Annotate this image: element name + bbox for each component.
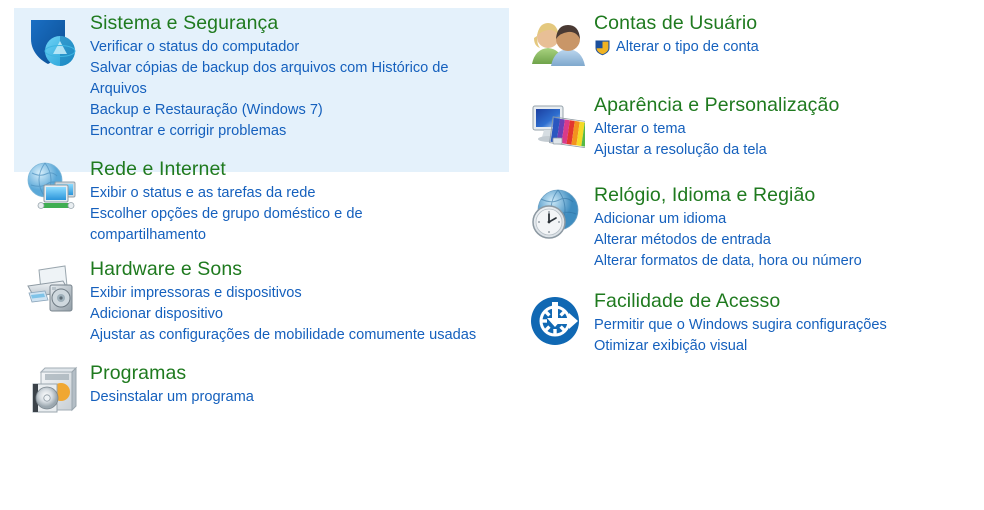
category-link[interactable]: Alterar formatos de data, hora ou número [594, 251, 862, 272]
category-ease-of-access[interactable]: Facilidade de Acesso Permitir que o Wind… [518, 286, 984, 358]
control-panel-category-view: Sistema e Segurança Verificar o status d… [0, 0, 984, 510]
category-title[interactable]: Sistema e Segurança [90, 10, 490, 36]
category-link[interactable]: Encontrar e corrigir problemas [90, 121, 490, 142]
category-columns: Sistema e Segurança Verificar o status d… [0, 0, 984, 510]
category-title[interactable]: Rede e Internet [90, 156, 420, 182]
category-title[interactable]: Hardware e Sons [90, 256, 476, 282]
category-body: Aparência e Personalização Alterar o tem… [594, 90, 839, 161]
category-link[interactable]: Otimizar exibição visual [594, 336, 887, 357]
category-title[interactable]: Facilidade de Acesso [594, 288, 887, 314]
category-body: Relógio, Idioma e Região Adicionar um id… [594, 180, 862, 272]
category-link[interactable]: Ajustar a resolução da tela [594, 140, 839, 161]
ease-of-access-clock-arrow-icon[interactable] [518, 286, 594, 358]
link-label: Alterar o tipo de conta [616, 37, 759, 58]
uac-shield-icon [594, 39, 611, 56]
globe-monitors-icon[interactable] [14, 154, 90, 226]
category-body: Programas Desinstalar um programa [90, 358, 254, 408]
left-column: Sistema e Segurança Verificar o status d… [0, 0, 510, 510]
programs-disc-icon[interactable] [14, 358, 90, 430]
category-clock-language-region[interactable]: Relógio, Idioma e Região Adicionar um id… [518, 180, 984, 272]
category-link[interactable]: Alterar métodos de entrada [594, 230, 862, 251]
category-programs[interactable]: Programas Desinstalar um programa [14, 358, 510, 430]
category-title[interactable]: Contas de Usuário [594, 10, 759, 36]
category-body: Rede e Internet Exibir o status e as tar… [90, 154, 420, 246]
category-link[interactable]: Alterar o tema [594, 119, 839, 140]
shield-globe-icon[interactable] [14, 8, 90, 80]
category-link[interactable]: Salvar cópias de backup dos arquivos com… [90, 58, 490, 100]
category-network-internet[interactable]: Rede e Internet Exibir o status e as tar… [14, 154, 510, 246]
category-link[interactable]: Adicionar dispositivo [90, 304, 476, 325]
users-icon[interactable] [518, 8, 594, 80]
category-link[interactable]: Adicionar um idioma [594, 209, 862, 230]
category-body: Sistema e Segurança Verificar o status d… [90, 8, 490, 142]
category-link[interactable]: Ajustar as configurações de mobilidade c… [90, 325, 476, 346]
category-link-change-account-type[interactable]: Alterar o tipo de conta [594, 37, 759, 58]
category-system-security[interactable]: Sistema e Segurança Verificar o status d… [14, 8, 510, 142]
category-body: Contas de Usuário Alterar o tipo de cont… [594, 8, 759, 58]
monitor-palette-icon[interactable] [518, 90, 594, 162]
category-link[interactable]: Escolher opções de grupo doméstico e de … [90, 204, 420, 246]
right-column: Contas de Usuário Alterar o tipo de cont… [510, 0, 984, 510]
category-link[interactable]: Permitir que o Windows sugira configuraç… [594, 315, 887, 336]
category-title[interactable]: Relógio, Idioma e Região [594, 182, 862, 208]
category-body: Hardware e Sons Exibir impressoras e dis… [90, 254, 476, 346]
category-link[interactable]: Exibir o status e as tarefas da rede [90, 183, 420, 204]
clock-globe-icon[interactable] [518, 180, 594, 252]
category-user-accounts[interactable]: Contas de Usuário Alterar o tipo de cont… [518, 8, 984, 80]
printer-speaker-icon[interactable] [14, 254, 90, 326]
category-body: Facilidade de Acesso Permitir que o Wind… [594, 286, 887, 357]
category-title[interactable]: Programas [90, 360, 254, 386]
category-hardware-sound[interactable]: Hardware e Sons Exibir impressoras e dis… [14, 254, 510, 346]
category-appearance-personalization[interactable]: Aparência e Personalização Alterar o tem… [518, 90, 984, 162]
category-link[interactable]: Verificar o status do computador [90, 37, 490, 58]
category-link[interactable]: Desinstalar um programa [90, 387, 254, 408]
category-link[interactable]: Backup e Restauração (Windows 7) [90, 100, 490, 121]
category-title[interactable]: Aparência e Personalização [594, 92, 839, 118]
category-link[interactable]: Exibir impressoras e dispositivos [90, 283, 476, 304]
